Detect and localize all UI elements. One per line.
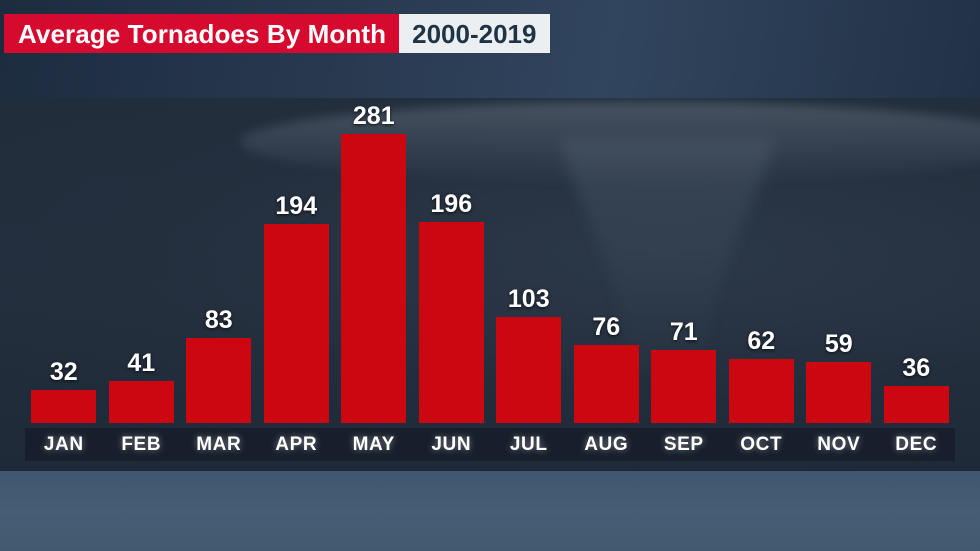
x-axis-tick-label: JUL (490, 434, 568, 456)
bar (109, 381, 174, 423)
bar-value-label: 41 (103, 351, 181, 376)
bar-value-label: 71 (645, 320, 723, 345)
bar (729, 359, 794, 423)
bar-column-oct: 62 (723, 120, 801, 423)
bar-column-sep: 71 (645, 120, 723, 423)
x-axis-tick-label: OCT (723, 434, 801, 456)
bar-value-label: 194 (258, 194, 336, 219)
title-banner-years: 2000-2019 (399, 14, 550, 53)
bar (574, 345, 639, 423)
x-axis-tick-label: APR (258, 434, 336, 456)
bar-value-label: 281 (335, 104, 413, 129)
bar-column-may: 281 (335, 120, 413, 423)
bar-column-nov: 59 (800, 120, 878, 423)
x-axis-tick-label: MAY (335, 434, 413, 456)
bar (264, 224, 329, 423)
bar-column-feb: 41 (103, 120, 181, 423)
year-range-label: 2000-2019 (412, 21, 536, 47)
bar-column-jul: 103 (490, 120, 568, 423)
bar (419, 222, 484, 423)
page-title: Average Tornadoes By Month (18, 21, 386, 47)
chart-screenshot: Average Tornadoes By Month 2000-2019 324… (0, 0, 980, 551)
bar-value-label: 62 (723, 329, 801, 354)
bar-column-aug: 76 (568, 120, 646, 423)
bar (884, 386, 949, 423)
bar-series: 3241831942811961037671625936 (25, 120, 955, 423)
x-axis-tick-label: NOV (800, 434, 878, 456)
footer-band (0, 471, 980, 551)
bar (341, 134, 406, 423)
x-axis-month-labels: JANFEBMARAPRMAYJUNJULAUGSEPOCTNOVDEC (25, 428, 955, 461)
title-banner-red: Average Tornadoes By Month (4, 14, 399, 53)
bar-column-apr: 194 (258, 120, 336, 423)
title-banner: Average Tornadoes By Month 2000-2019 (4, 14, 550, 53)
bar-column-mar: 83 (180, 120, 258, 423)
x-axis-tick-label: MAR (180, 434, 258, 456)
x-axis-tick-label: JAN (25, 434, 103, 456)
bar-value-label: 32 (25, 360, 103, 385)
bar-column-jan: 32 (25, 120, 103, 423)
x-axis-tick-label: JUN (413, 434, 491, 456)
bar-chart-plot-area: 3241831942811961037671625936 (25, 120, 955, 423)
bar (806, 362, 871, 423)
x-axis-tick-label: SEP (645, 434, 723, 456)
bar-value-label: 83 (180, 308, 258, 333)
x-axis-tick-label: DEC (878, 434, 956, 456)
bar (186, 338, 251, 423)
bar-value-label: 76 (568, 315, 646, 340)
x-axis-tick-label: FEB (103, 434, 181, 456)
x-axis-tick-label: AUG (568, 434, 646, 456)
bar (496, 317, 561, 423)
bar (651, 350, 716, 423)
bar-value-label: 36 (878, 356, 956, 381)
bar-value-label: 196 (413, 192, 491, 217)
bar-value-label: 59 (800, 332, 878, 357)
bar-value-label: 103 (490, 287, 568, 312)
bar (31, 390, 96, 423)
bar-column-jun: 196 (413, 120, 491, 423)
bar-column-dec: 36 (878, 120, 956, 423)
